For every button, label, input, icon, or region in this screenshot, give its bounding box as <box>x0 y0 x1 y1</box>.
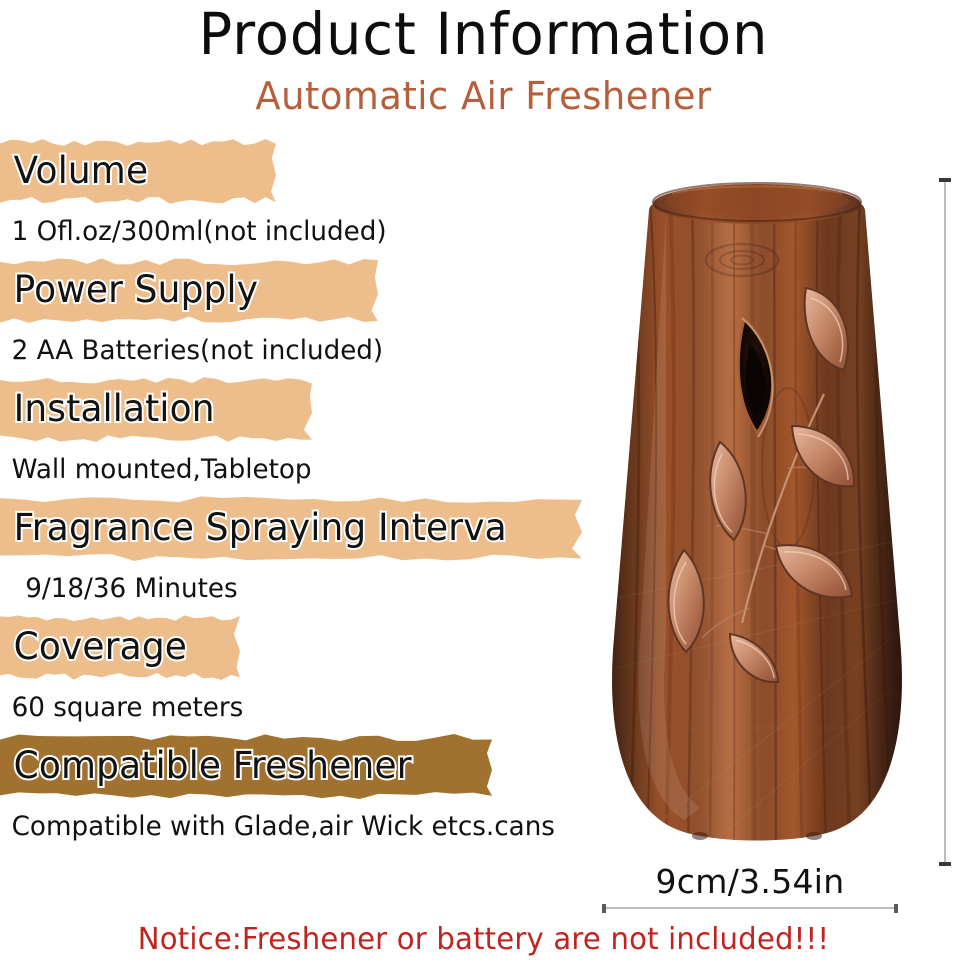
spec-heading-row: Compatible Freshener <box>0 733 600 800</box>
dimension-line-vertical <box>944 178 946 866</box>
width-dimension-line <box>602 903 898 915</box>
spec-heading: Installation <box>0 376 582 443</box>
notice-text: Notice:Freshener or battery are not incl… <box>15 925 953 955</box>
page-title: Product Information <box>19 4 947 65</box>
spec-heading-row: Installation <box>0 376 600 443</box>
dimension-cap-right <box>894 904 898 913</box>
dimension-line-horizontal <box>602 907 898 909</box>
spec-heading: Power Supply <box>0 257 582 324</box>
spec-block: Coverage60 square meters <box>0 614 600 733</box>
spec-block: InstallationWall mounted,Tabletop <box>0 376 600 495</box>
spec-heading-row: Volume <box>0 138 600 205</box>
product-information-infographic: Product Information Automatic Air Freshe… <box>0 0 967 977</box>
product-image <box>592 168 922 868</box>
dimension-cap-top <box>939 178 951 182</box>
dimension-cap-left <box>602 904 606 913</box>
height-dimension-line <box>938 178 952 866</box>
spec-block: Volume1 Ofl.oz/300ml(not included) <box>0 138 600 257</box>
spec-block: Fragrance Spraying Interva9/18/36 Minute… <box>0 495 600 614</box>
spec-value: 9/18/36 Minutes <box>0 562 582 614</box>
page-subtitle: Automatic Air Freshener <box>15 76 953 118</box>
width-dimension-label: 9cm/3.54in <box>602 862 898 901</box>
spec-heading: Fragrance Spraying Interva <box>0 495 582 562</box>
spec-value: 60 square meters <box>0 681 582 733</box>
spec-value: Wall mounted,Tabletop <box>0 443 582 495</box>
spec-heading: Coverage <box>0 614 582 681</box>
spec-list: Volume1 Ofl.oz/300ml(not included)Power … <box>0 138 600 852</box>
spec-heading-row: Power Supply <box>0 257 600 324</box>
spec-heading: Volume <box>0 138 582 205</box>
spec-block: Power Supply2 AA Batteries(not included) <box>0 257 600 376</box>
spec-block: Compatible FreshenerCompatible with Glad… <box>0 733 600 852</box>
spec-heading-row: Fragrance Spraying Interva <box>0 495 600 562</box>
dispenser-top-cap <box>653 183 861 224</box>
dispenser-body <box>612 198 904 848</box>
height-dimension-label: 22cm/8.66in <box>962 316 967 522</box>
spec-value: Compatible with Glade,air Wick etcs.cans <box>0 800 582 852</box>
spec-value: 1 Ofl.oz/300ml(not included) <box>0 205 582 257</box>
spec-heading: Compatible Freshener <box>0 733 582 800</box>
dimension-cap-bottom <box>939 862 951 866</box>
spec-value: 2 AA Batteries(not included) <box>0 324 582 376</box>
spec-heading-row: Coverage <box>0 614 600 681</box>
